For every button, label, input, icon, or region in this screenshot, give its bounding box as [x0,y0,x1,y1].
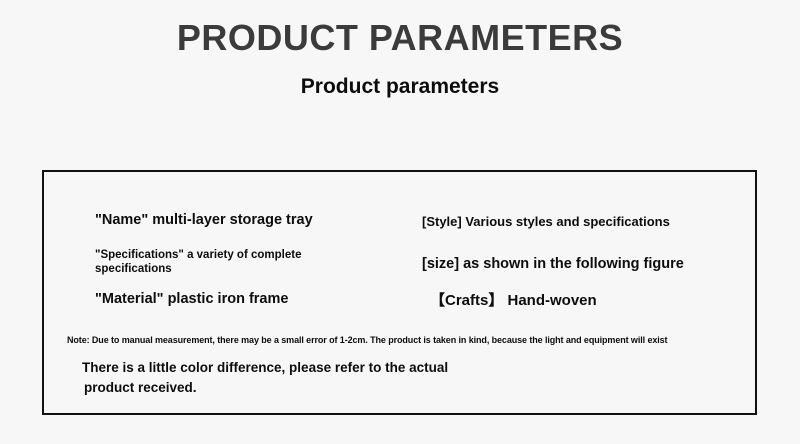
specification-box: "Name" multi-layer storage tray [Style] … [42,170,757,415]
spec-material-value: "Material" plastic iron frame [95,291,288,309]
product-parameters-page: PRODUCT PARAMETERS Product parameters "N… [0,0,800,444]
specification-grid: "Name" multi-layer storage tray [Style] … [44,172,759,417]
color-difference-note: There is a little color difference, plea… [82,358,532,397]
spec-style-value: [Style] Various styles and specification… [422,214,670,230]
spec-crafts-value: 【Crafts】 Hand-woven [430,292,597,310]
measurement-note: Note: Due to manual measurement, there m… [67,335,759,346]
page-subtitle: Product parameters [0,74,800,99]
color-difference-note-line2: product received. [82,378,532,398]
spec-size-value: [size] as shown in the following figure [422,256,684,274]
page-title: PRODUCT PARAMETERS [0,18,800,58]
spec-specifications-value: "Specifications" a variety of complete s… [95,248,345,276]
spec-name-value: "Name" multi-layer storage tray [95,212,313,230]
color-difference-note-line1: There is a little color difference, plea… [82,360,448,375]
